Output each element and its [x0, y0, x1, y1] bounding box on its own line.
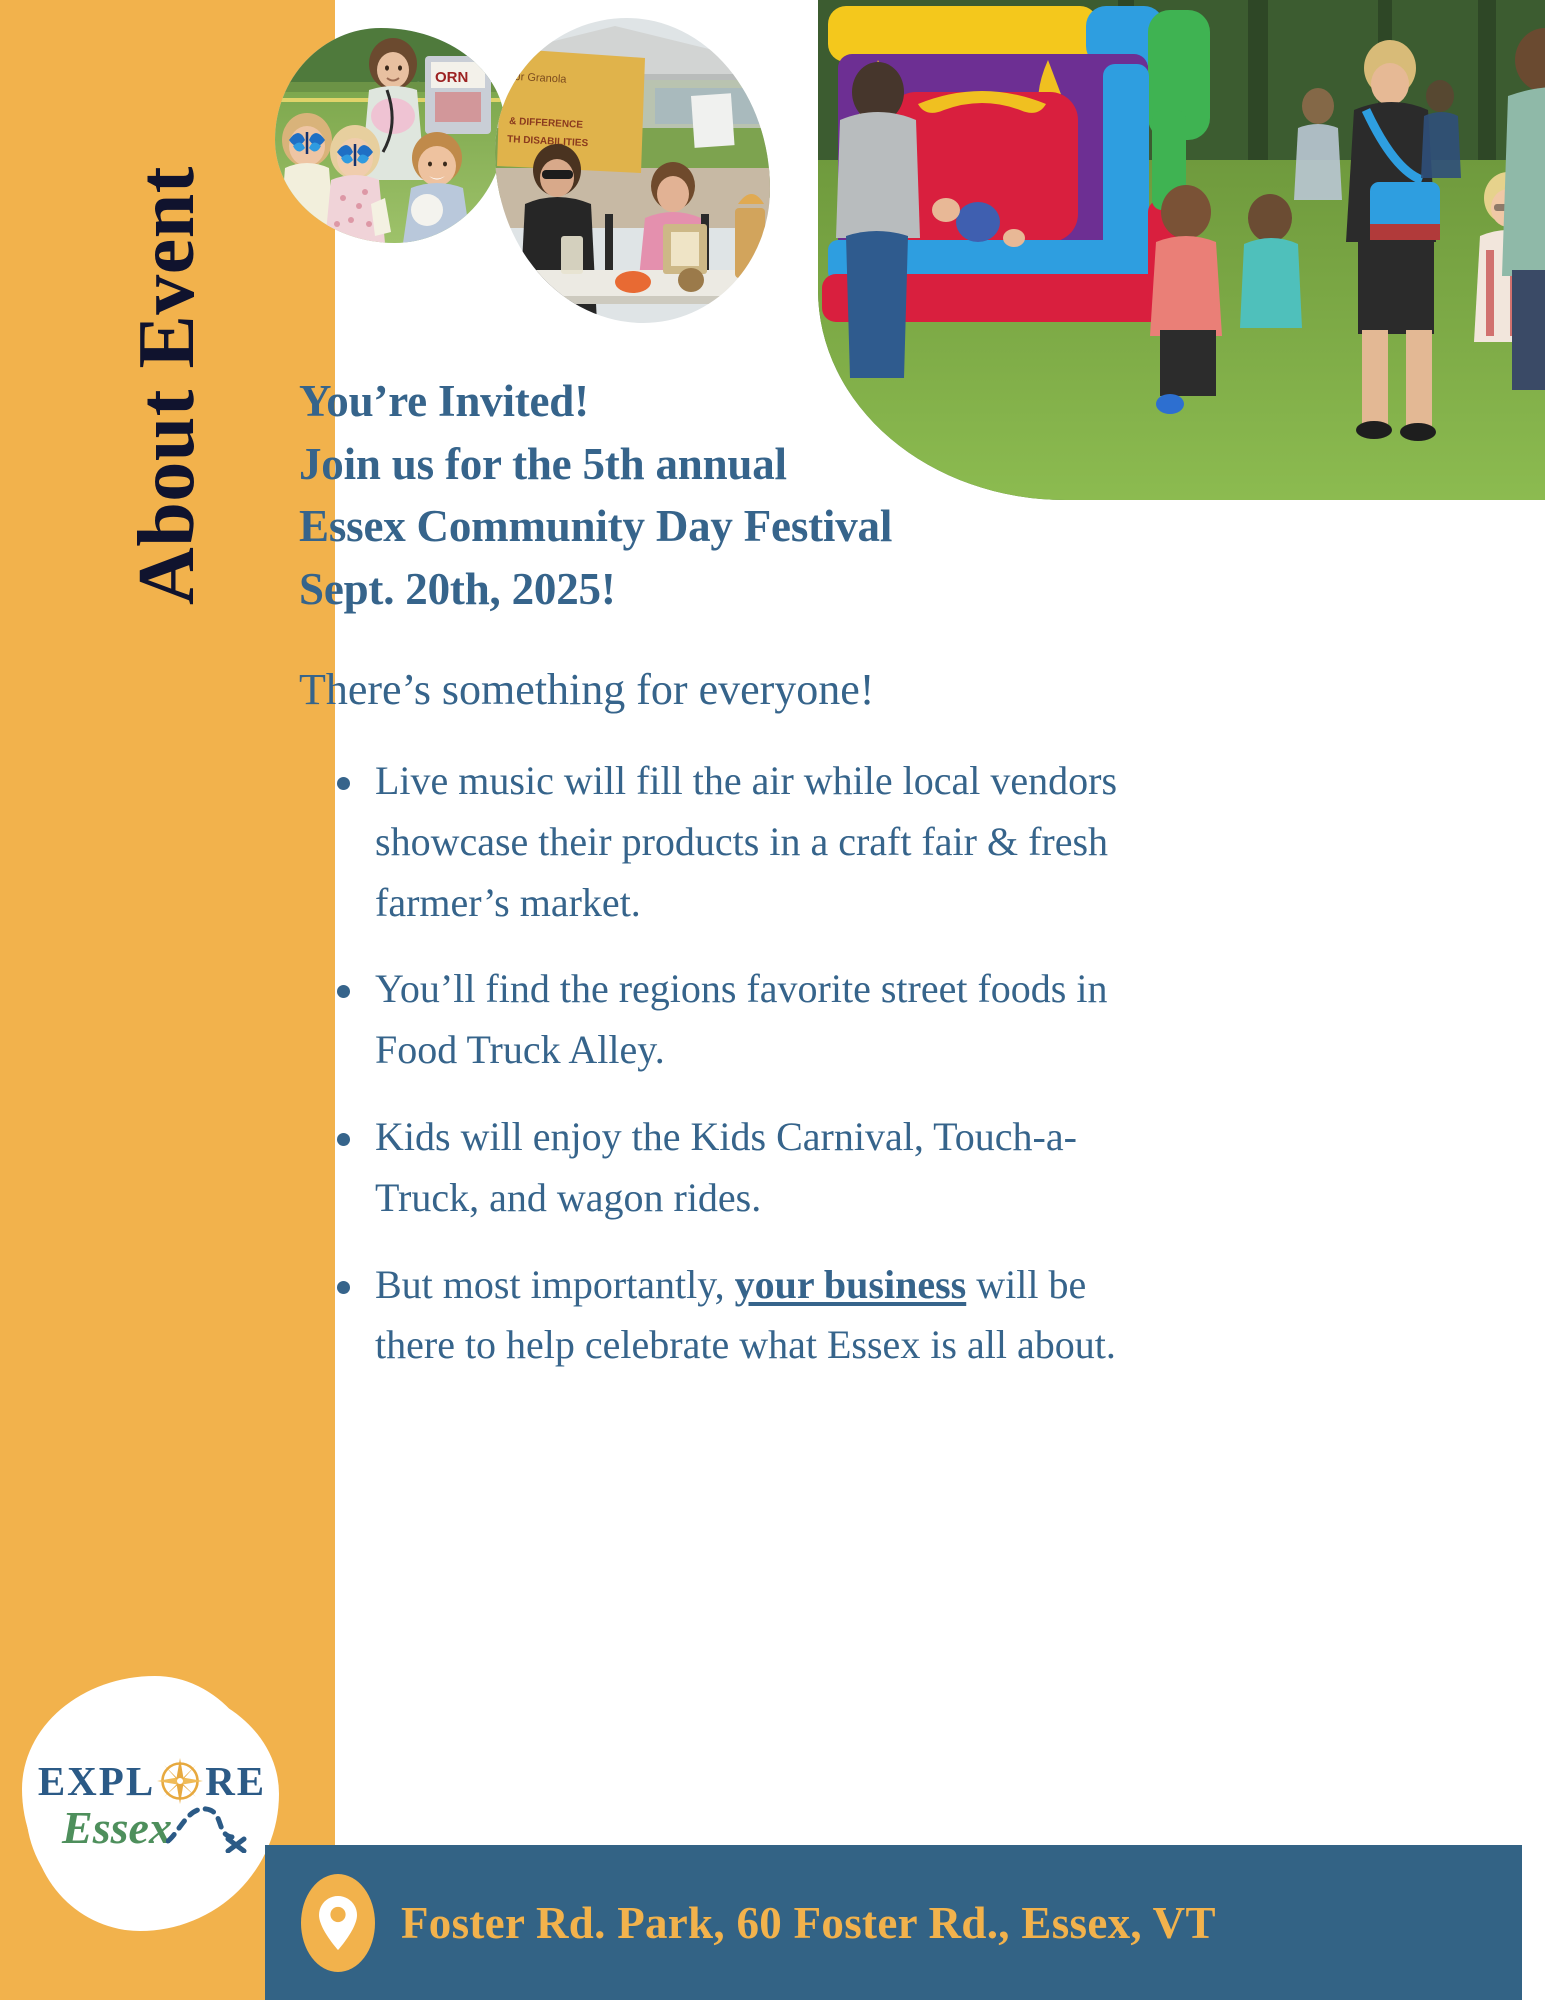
- headline-line-4: Sept. 20th, 2025!: [299, 558, 1119, 621]
- headline-line-2: Join us for the 5th annual: [299, 433, 1119, 496]
- vendor-booth-photo: Jr Granola & DIFFERENCE TH DISABILITIES: [495, 18, 770, 323]
- flyer-page: About Event EXPL: [0, 0, 1545, 2000]
- bullet-text-prefix: Live music will fill the air while local…: [375, 758, 1117, 925]
- bullet-dot-icon: [337, 1281, 350, 1294]
- subheading: There’s something for everyone!: [299, 664, 1119, 717]
- svg-text:TH DISABILITIES: TH DISABILITIES: [507, 134, 589, 149]
- bullet-dot-icon: [337, 985, 350, 998]
- feature-bullet-list: Live music will fill the air while local…: [299, 751, 1119, 1376]
- logo-explore-part1: EXPL: [38, 1761, 155, 1802]
- list-item: Live music will fill the air while local…: [299, 751, 1119, 933]
- map-pin-icon: [319, 1896, 357, 1950]
- sidebar-title-wrap: About Event: [0, 0, 335, 1560]
- headline-line-1: You’re Invited!: [299, 370, 1119, 433]
- list-item: You’ll find the regions favorite street …: [299, 959, 1119, 1081]
- sidebar: About Event EXPL: [0, 0, 335, 2000]
- bullet-text-prefix: Kids will enjoy the Kids Carnival, Touch…: [375, 1114, 1077, 1220]
- logo-inner: EXPL: [26, 1680, 274, 1928]
- logo-essex-row: Essex: [26, 1801, 274, 1851]
- compass-rose-icon: [156, 1757, 204, 1805]
- dashed-path-to-x-icon: [166, 1801, 252, 1853]
- logo-essex-wordmark: Essex: [62, 1805, 172, 1851]
- svg-text:ORN: ORN: [435, 69, 468, 86]
- svg-text:& DIFFERENCE: & DIFFERENCE: [509, 116, 584, 131]
- bullet-dot-icon: [337, 777, 350, 790]
- logo-explore-wordmark: EXPL: [38, 1757, 266, 1805]
- explore-essex-logo: EXPL: [26, 1680, 274, 1928]
- map-pin-badge: [301, 1874, 375, 1972]
- bullet-text-emphasis: your business: [735, 1262, 967, 1307]
- logo-explore-part2: RE: [205, 1761, 266, 1802]
- bullet-dot-icon: [337, 1133, 350, 1146]
- headline-line-3: Essex Community Day Festival: [299, 495, 1119, 558]
- list-item: Kids will enjoy the Kids Carnival, Touch…: [299, 1107, 1119, 1229]
- page-title: About Event: [122, 166, 213, 605]
- bullet-text-prefix: You’ll find the regions favorite street …: [375, 966, 1107, 1072]
- bullet-text-prefix: But most importantly,: [375, 1262, 735, 1307]
- headline: You’re Invited! Join us for the 5th annu…: [299, 370, 1119, 620]
- main-content: You’re Invited! Join us for the 5th annu…: [299, 370, 1119, 1376]
- location-footer-bar: Foster Rd. Park, 60 Foster Rd., Essex, V…: [265, 1845, 1522, 2000]
- list-item: But most importantly, your business will…: [299, 1255, 1119, 1377]
- svg-text:Jr Granola: Jr Granola: [515, 71, 568, 86]
- location-text: Foster Rd. Park, 60 Foster Rd., Essex, V…: [401, 1897, 1216, 1949]
